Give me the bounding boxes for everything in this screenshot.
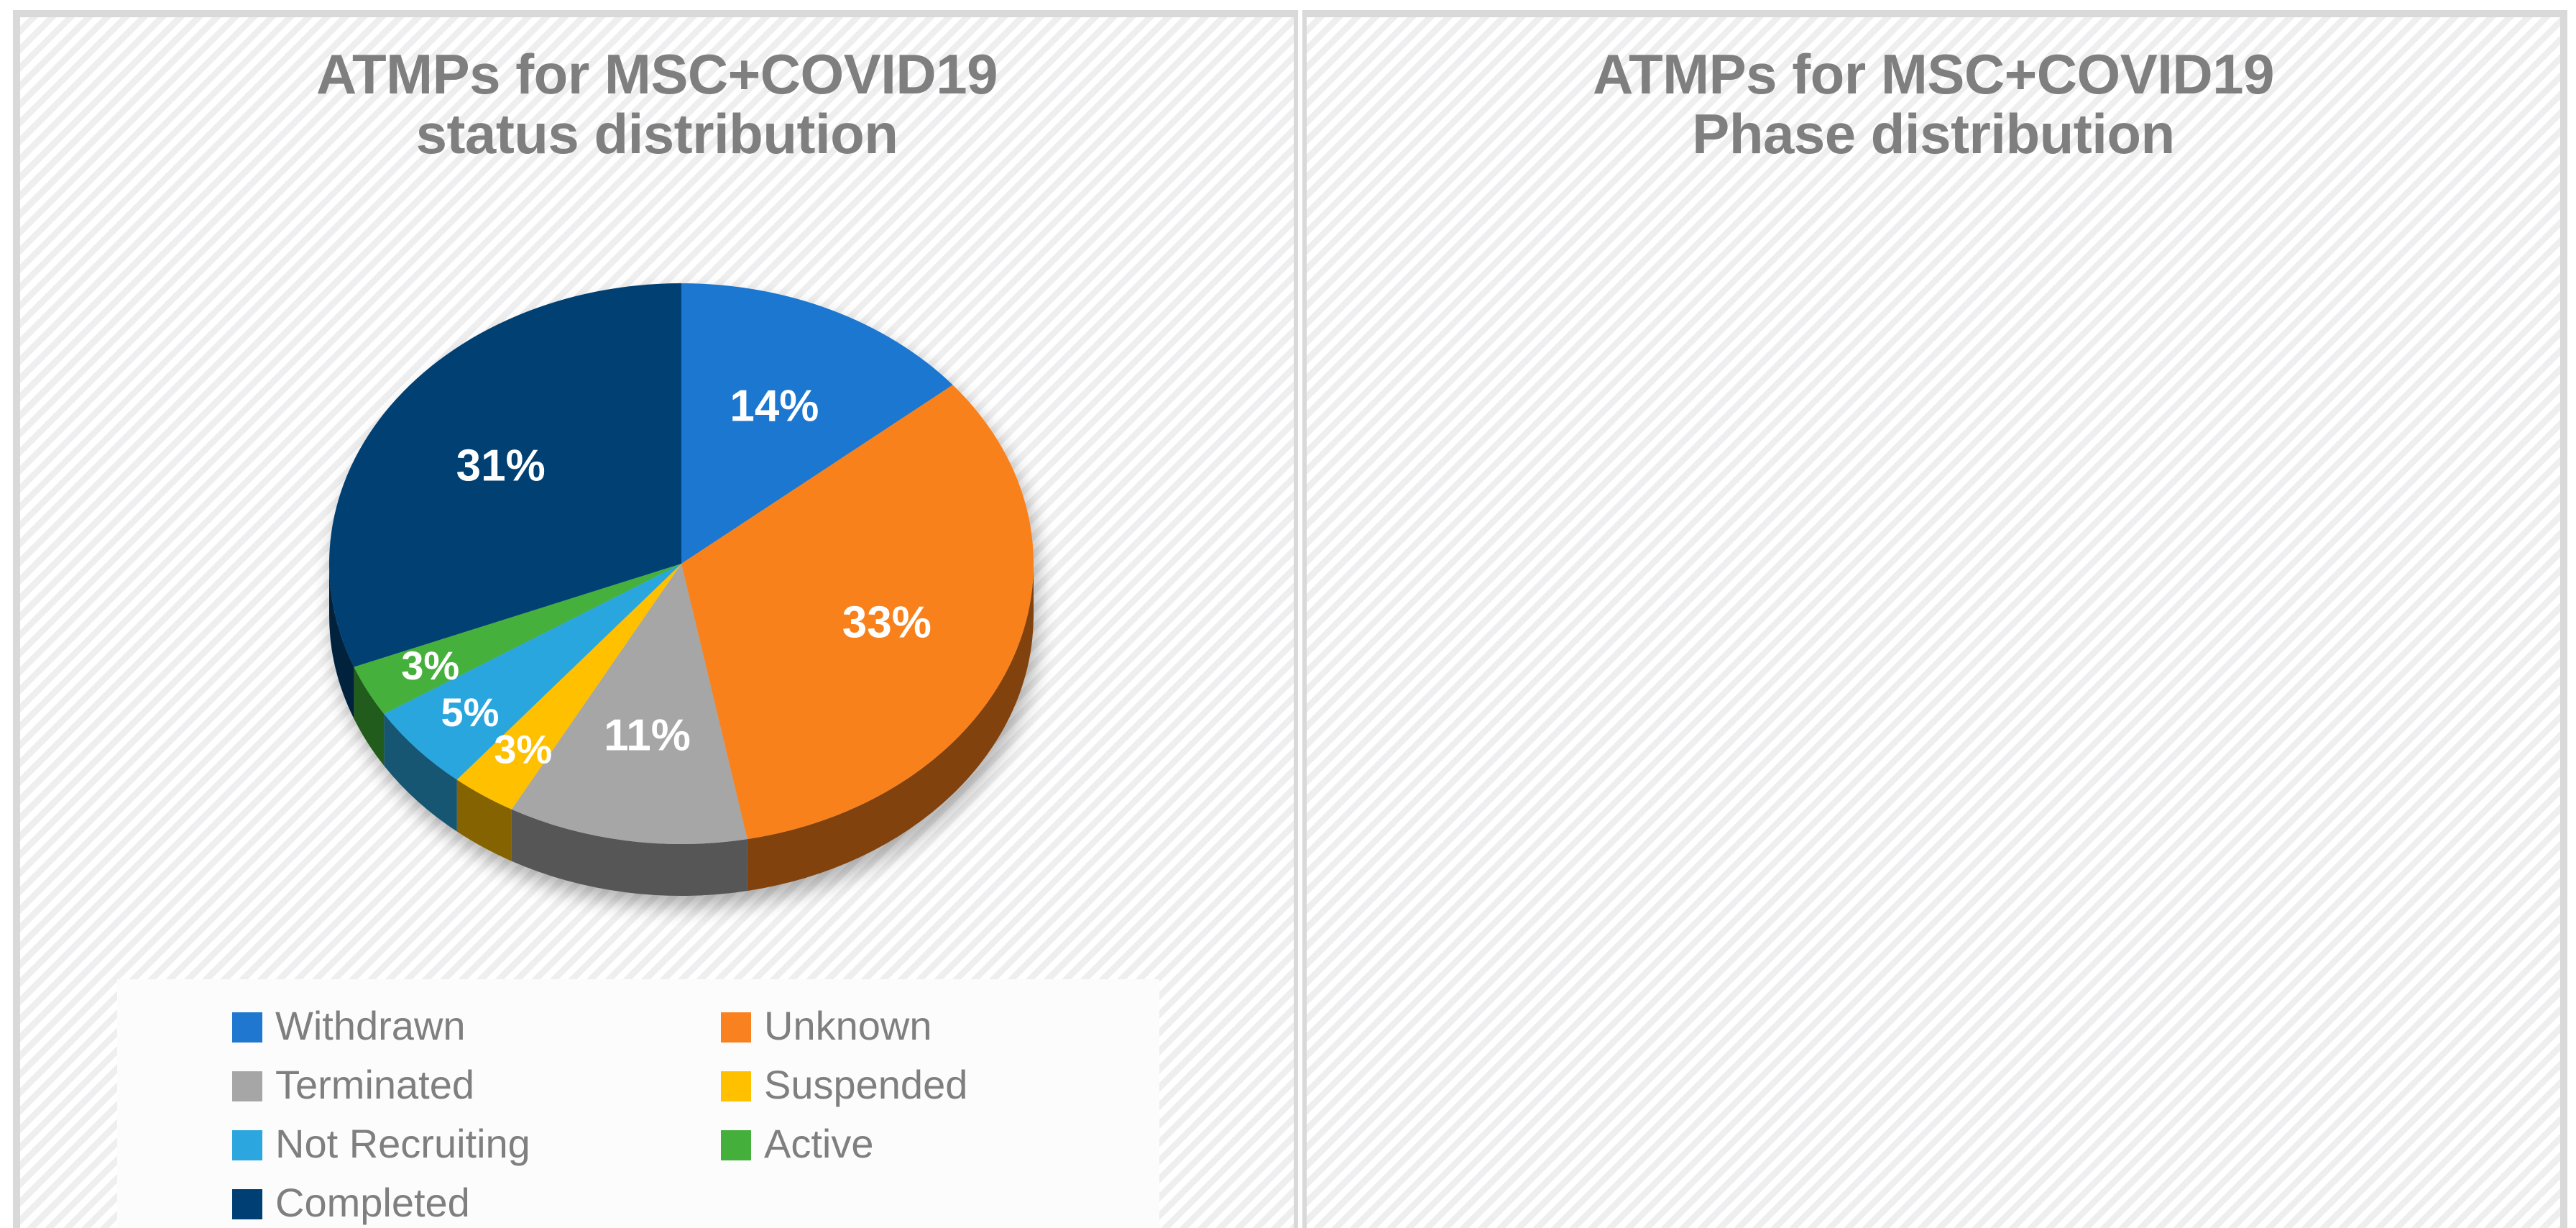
page-title-status: ATMPs for MSC+COVID19 status distributio… [20,45,1294,163]
legend-item-not-recruiting[interactable]: Not Recruiting [232,1116,721,1175]
legend-item-completed[interactable]: Completed [232,1175,721,1228]
data-label-suspended: 3% [494,727,552,772]
legend-swatch-terminated [232,1071,262,1101]
legend-label-active: Active [764,1124,874,1164]
legend-label-suspended: Suspended [764,1065,967,1105]
page-title-phase: ATMPs for MSC+COVID19 Phase distribution [1307,45,2560,163]
legend-swatch-suspended [721,1071,751,1101]
data-label-unknown: 33% [842,597,931,647]
data-label-terminated: 11% [604,710,691,760]
figure-canvas: ATMPs for MSC+COVID19 status distributio… [0,0,2576,1228]
pie-chart-status: 14%33%11%3%5%3%31% [257,255,1105,916]
legend-item-suspended[interactable]: Suspended [721,1057,1159,1116]
legend-swatch-unknown [721,1012,751,1043]
pie-geometry [329,283,1034,896]
legend-item-unknown[interactable]: Unknown [721,998,1159,1057]
legend-item-withdrawn[interactable]: Withdrawn [232,998,721,1057]
data-label-withdrawn: 14% [730,382,819,431]
legend-item-active[interactable]: Active [721,1116,1159,1175]
legend-label-terminated: Terminated [275,1065,474,1105]
data-label-not-recruiting: 5% [441,689,500,735]
legend-swatch-not-recruiting [232,1130,262,1160]
legend-swatch-completed [232,1189,262,1219]
data-label-active: 3% [401,643,459,688]
legend-label-completed: Completed [275,1183,470,1223]
legend-item-terminated[interactable]: Terminated [232,1057,721,1116]
legend-label-not-recruiting: Not Recruiting [275,1124,530,1164]
data-label-completed: 31% [456,441,546,491]
pie-chart-status-svg: 14%33%11%3%5%3%31% [257,255,1105,916]
legend-label-withdrawn: Withdrawn [275,1006,466,1046]
chart-panel-phase: ATMPs for MSC+COVID19 Phase distribution [1302,10,2567,1228]
chart-panel-status: ATMPs for MSC+COVID19 status distributio… [13,10,1298,1228]
legend-swatch-withdrawn [232,1012,262,1043]
legend-label-unknown: Unknown [764,1006,931,1046]
legend-swatch-active [721,1130,751,1160]
legend-status: Withdrawn Unknown Terminated Suspended N… [117,979,1159,1228]
